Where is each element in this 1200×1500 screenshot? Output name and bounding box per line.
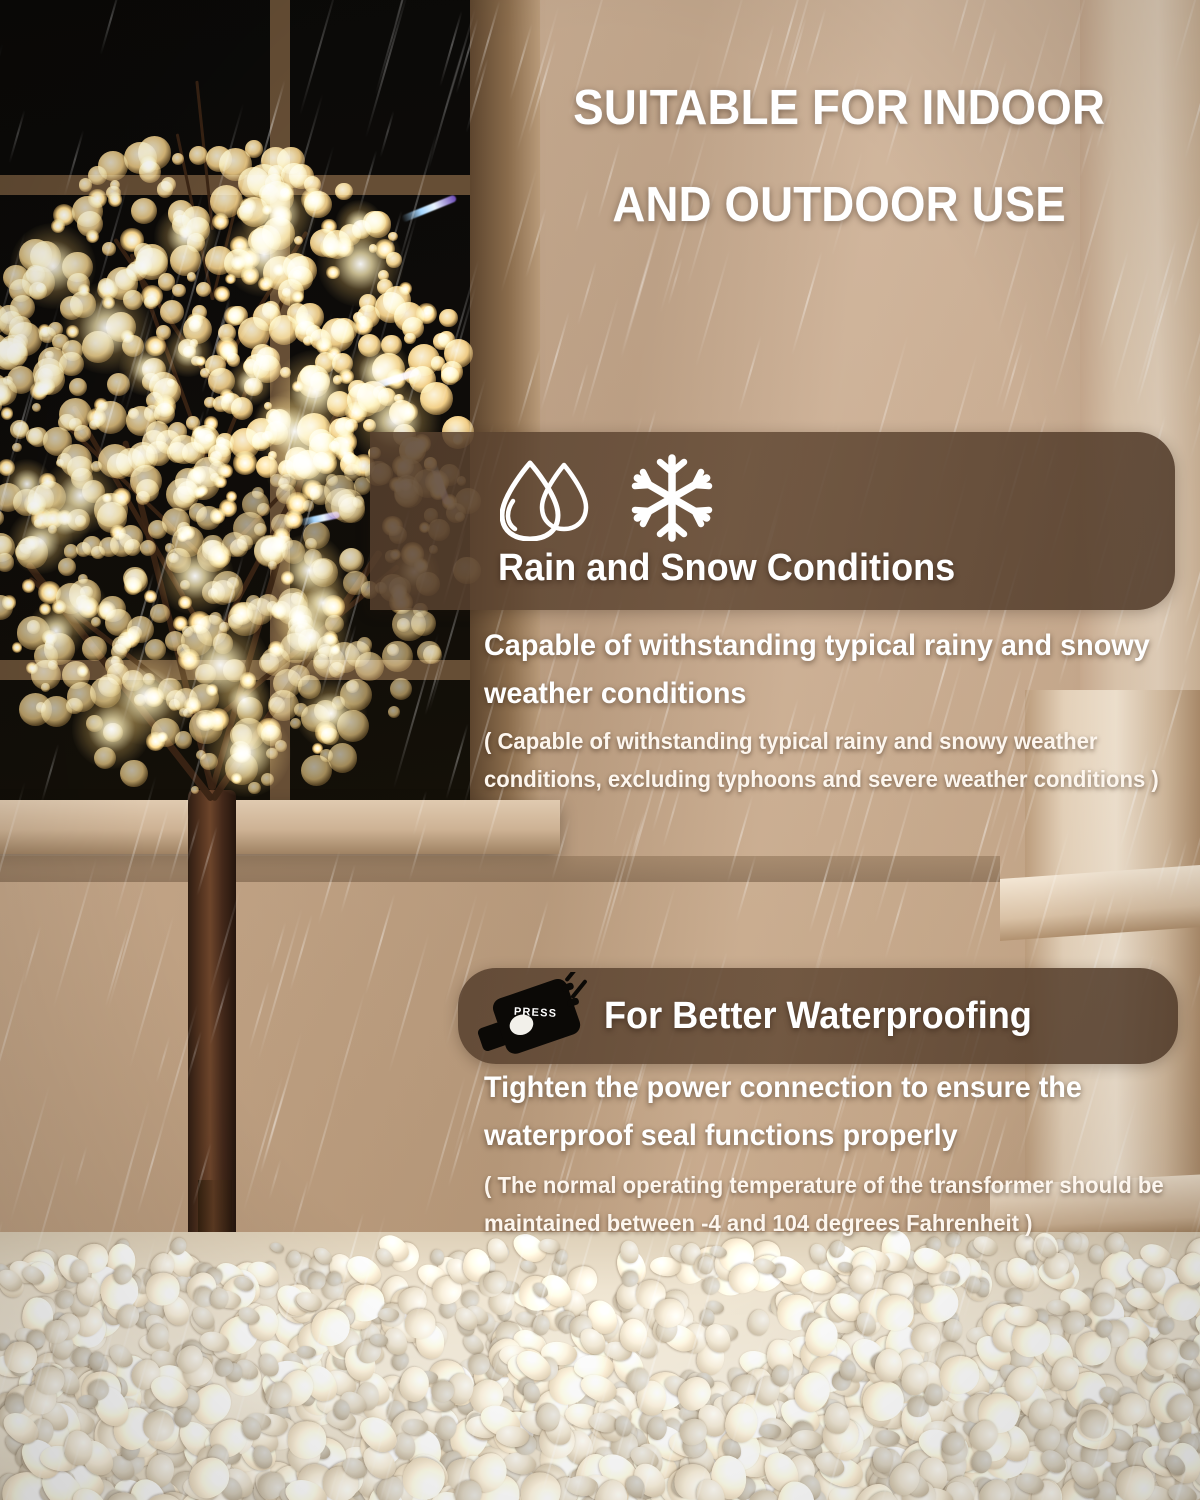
feature-title-waterproofing: For Better Waterproofing xyxy=(604,995,1032,1037)
headline-line-1: SUITABLE FOR INDOOR xyxy=(573,81,1105,135)
feature-note-rain-snow: ( Capable of withstanding typical rainy … xyxy=(484,722,1194,798)
snowflake-icon xyxy=(626,452,718,549)
feature-body-waterproofing: Tighten the power connection to ensure t… xyxy=(484,1064,1194,1160)
feature-body-rain-snow: Capable of withstanding typical rainy an… xyxy=(484,622,1194,718)
feature-icons-rain-snow xyxy=(500,452,718,549)
feature-note-waterproofing: ( The normal operating temperature of th… xyxy=(484,1166,1194,1242)
power-adapter-icon: PRESS xyxy=(470,972,600,1069)
water-drop-icon xyxy=(500,455,604,546)
page-title: SUITABLE FOR INDOOR AND OUTDOOR USE xyxy=(518,60,1160,254)
headline-line-2: AND OUTDOOR USE xyxy=(518,157,1160,254)
text-overlay: SUITABLE FOR INDOOR AND OUTDOOR USE xyxy=(0,0,1200,1500)
adapter-press-label: PRESS xyxy=(514,1006,558,1020)
feature-title-rain-snow: Rain and Snow Conditions xyxy=(498,547,955,589)
product-feature-image: SUITABLE FOR INDOOR AND OUTDOOR USE xyxy=(0,0,1200,1500)
